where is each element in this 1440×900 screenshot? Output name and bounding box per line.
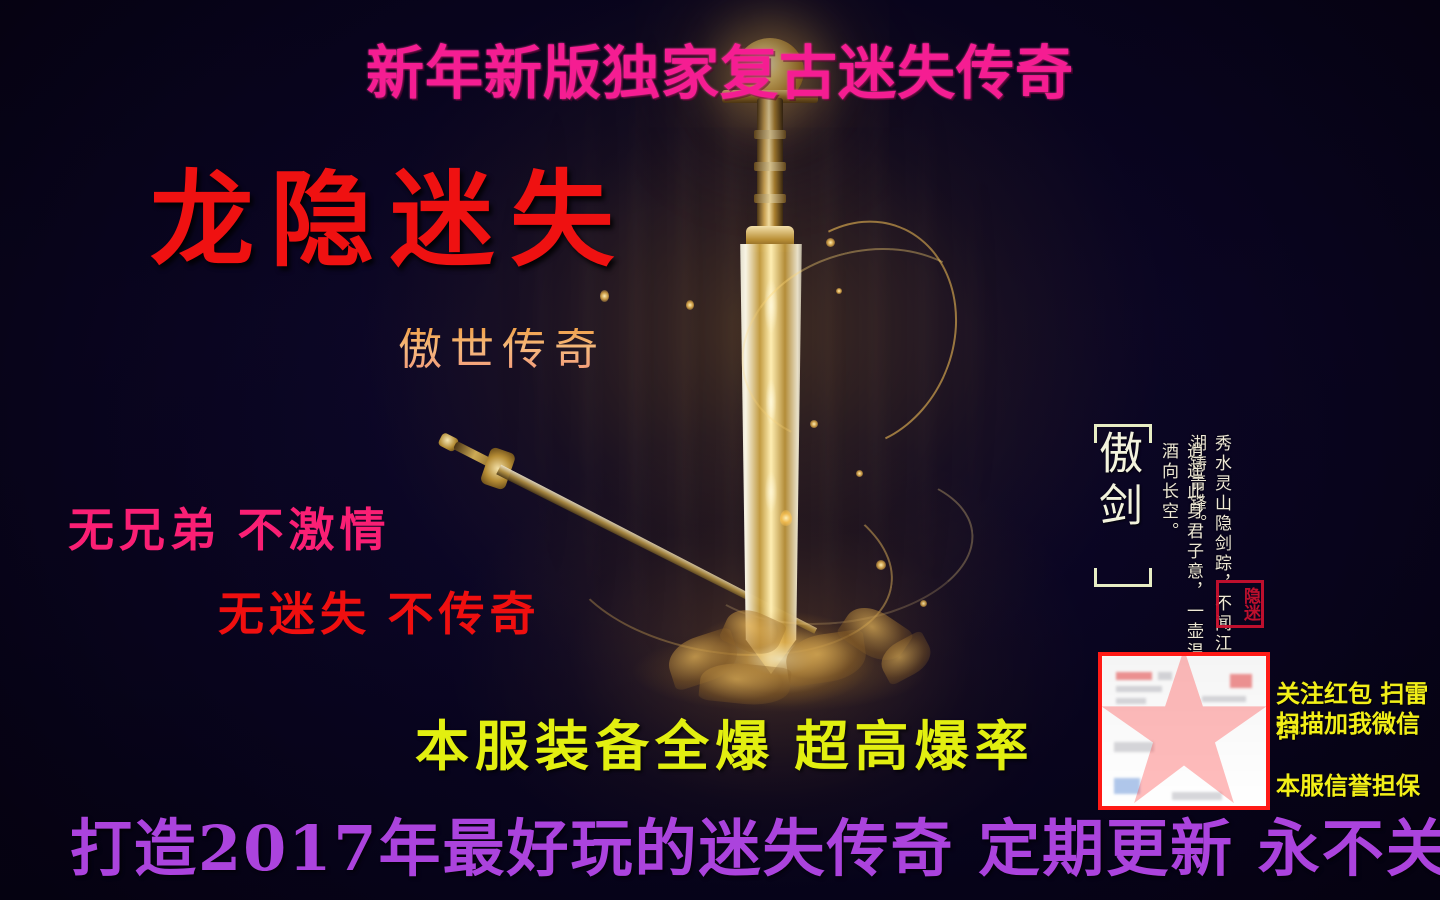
qr-chip (1202, 696, 1246, 702)
page-headline: 新年新版独家复古迷失传奇 (0, 44, 1440, 102)
qr-chip (1116, 686, 1162, 692)
feature-line: 本服装备全爆 超高爆率 (415, 720, 1035, 774)
brand-subtitle: 傲世传奇 (398, 328, 606, 372)
vertical-seal-block: 傲剑 秀水灵山隐剑踪，不闻江湖铸青锋。 逍遥此身君子意，一壶温酒向长空。 隐迷 (1088, 424, 1288, 674)
promo-line-2-label: 扫描加我微信 (1276, 710, 1420, 738)
promo-line-3: 本服信誉担保 (1276, 766, 1420, 801)
qr-chip (1158, 672, 1172, 680)
qr-chip (1114, 742, 1154, 752)
wechat-qr-box[interactable] (1098, 652, 1270, 810)
qr-chip (1172, 792, 1222, 800)
promo-line-2: 扫描加我微信 (1276, 704, 1420, 739)
red-seal-stamp: 隐迷 (1216, 580, 1264, 628)
poem-column-2: 逍遥此身君子意，一壶温酒向长空。 (1156, 442, 1206, 680)
vertical-title: 傲剑 (1096, 430, 1148, 534)
qr-chip (1116, 672, 1152, 680)
brand-title: 龙隐迷失 (150, 168, 630, 272)
bracket-bottom-icon (1094, 568, 1152, 587)
promo-line-3-label: 本服信誉担保 (1276, 772, 1420, 800)
slogan-line-2: 无迷失 不传奇 (218, 592, 541, 638)
qr-chip (1114, 778, 1140, 794)
slogan-line-1: 无兄弟 不激情 (68, 508, 391, 554)
qr-chip (1230, 674, 1252, 688)
qr-chip (1116, 698, 1146, 704)
bottom-tagline: 打造2017年最好玩的迷失传奇 定期更新 永不关服 (70, 818, 1440, 880)
poster-canvas: 新年新版独家复古迷失传奇 龙隐迷失 傲世传奇 无兄弟 不激情 无迷失 不传奇 本… (0, 0, 1440, 900)
